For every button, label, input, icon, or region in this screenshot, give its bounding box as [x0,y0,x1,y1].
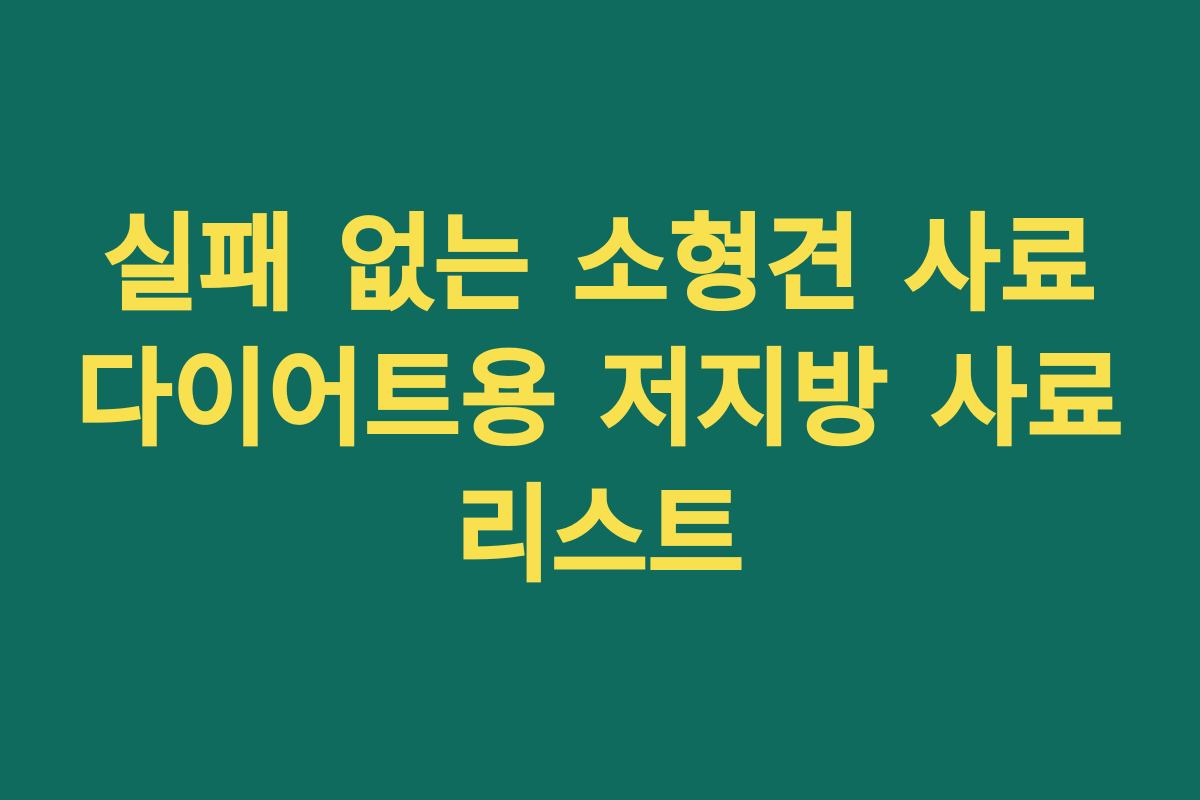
headline-line-1: 실패 없는 소형견 사료 [8,197,1192,332]
thumbnail-banner: 실패 없는 소형견 사료 다이어트용 저지방 사료 리스트 [0,0,1200,800]
headline-line-2: 다이어트용 저지방 사료 [8,332,1192,467]
headline-text: 실패 없는 소형견 사료 다이어트용 저지방 사료 리스트 [0,197,1200,603]
headline-line-3: 리스트 [8,468,1192,603]
